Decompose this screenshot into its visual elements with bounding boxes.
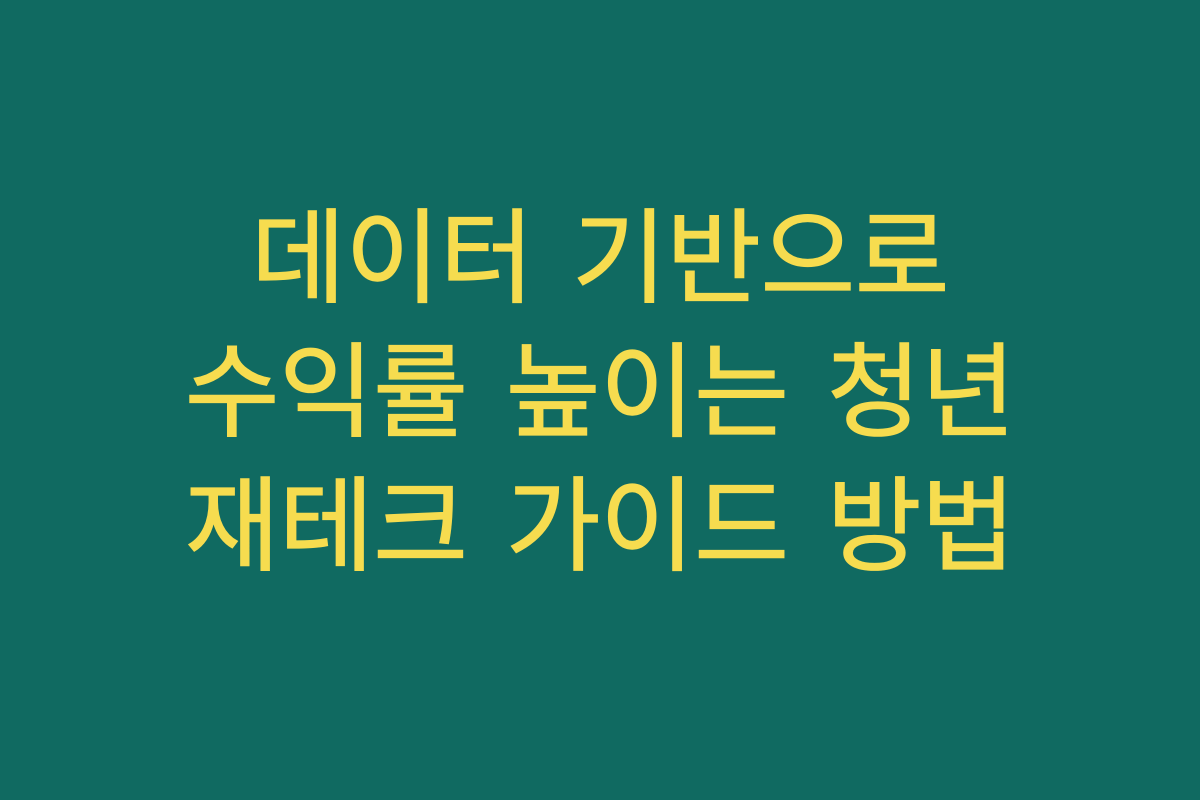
title-block: 데이터 기반으로 수익률 높이는 청년 재테크 가이드 방법 (95, 193, 1105, 595)
page-title: 데이터 기반으로 수익률 높이는 청년 재테크 가이드 방법 (95, 193, 1105, 595)
title-card: 데이터 기반으로 수익률 높이는 청년 재테크 가이드 방법 (0, 0, 1200, 800)
